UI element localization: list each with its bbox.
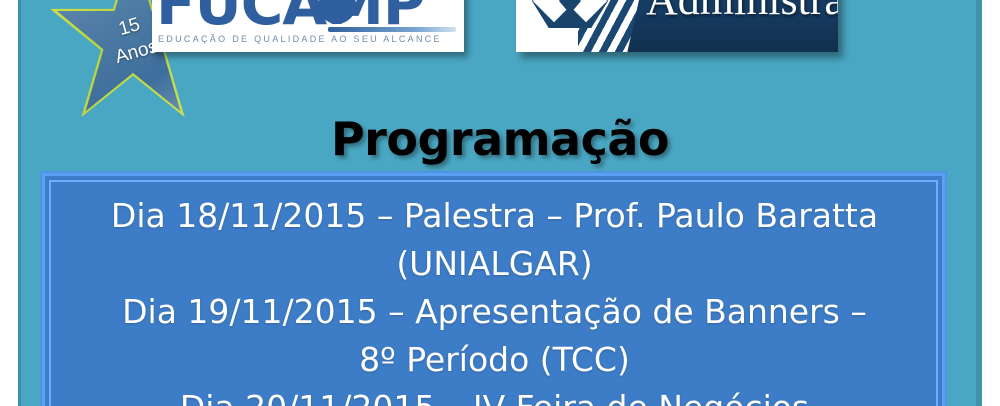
- slide-right-edge: [976, 0, 982, 406]
- fucamp-underline: [328, 27, 456, 32]
- presentation-slide: 15 Anos FUCAMP EDUCAÇÃO DE QUALIDADE AO …: [0, 0, 1000, 406]
- schedule-line: Dia 18/11/2015 – Palestra – Prof. Paulo …: [63, 192, 926, 240]
- administracao-banner: Administração: [516, 0, 838, 52]
- programacao-content-box: Dia 18/11/2015 – Palestra – Prof. Paulo …: [42, 173, 945, 406]
- fucamp-tagline: EDUCAÇÃO DE QUALIDADE AO SEU ALCANCE: [158, 34, 458, 44]
- schedule-line: Dia 20/11/2015 – IV Feira de Negócios: [63, 384, 926, 406]
- schedule-line: (UNIALGAR): [63, 240, 926, 288]
- slide-left-edge: [18, 0, 21, 406]
- page-title: Programação: [0, 112, 1000, 166]
- schedule-line: 8º Período (TCC): [63, 336, 926, 384]
- schedule-line: Dia 19/11/2015 – Apresentação de Banners…: [63, 288, 926, 336]
- administracao-label: Administração: [646, 0, 832, 36]
- fucamp-logo: FUCAMP EDUCAÇÃO DE QUALIDADE AO SEU ALCA…: [152, 0, 464, 52]
- programacao-text: Dia 18/11/2015 – Palestra – Prof. Paulo …: [63, 192, 926, 406]
